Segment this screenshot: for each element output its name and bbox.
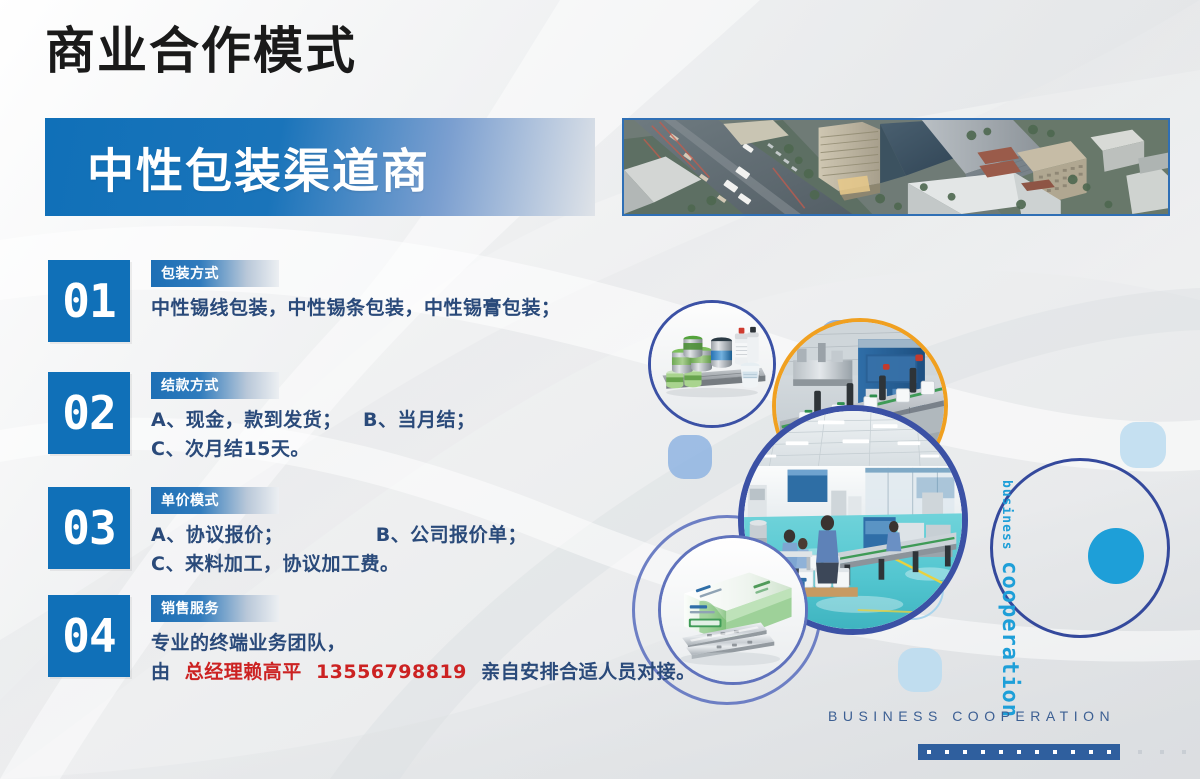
vertical-brand-text: business cooperation <box>997 480 1022 718</box>
dotted-bar-solid <box>918 744 1120 760</box>
bottom-caption: BUSINESS COOPERATION <box>828 708 1115 724</box>
circle-collage <box>620 290 1200 720</box>
item-body: 结款方式 A、现金，款到发货； B、当月结； C、次月结15天。 <box>151 372 476 465</box>
dotted-bar-tail <box>1120 750 1200 754</box>
dot <box>963 750 967 754</box>
item-body: 销售服务 专业的终端业务团队， 由 总经理赖高平 13556798819 亲自安… <box>151 595 696 688</box>
circle-photo-products <box>648 300 776 428</box>
dot <box>1053 750 1057 754</box>
header-photo <box>622 118 1170 216</box>
dot <box>1160 750 1164 754</box>
item-line: 专业的终端业务团队， <box>151 629 696 658</box>
dot <box>945 750 949 754</box>
item-lines: 专业的终端业务团队， 由 总经理赖高平 13556798819 亲自安排合适人员… <box>151 629 696 688</box>
decor-rounded-square <box>668 435 712 479</box>
item-number-badge: 02 <box>48 372 130 454</box>
contact-prefix: 由 <box>151 661 185 683</box>
dot <box>1071 750 1075 754</box>
item-tag: 结款方式 <box>151 372 279 399</box>
item-number-badge: 04 <box>48 595 130 677</box>
headline-banner-text: 中性包装渠道商 <box>87 133 430 202</box>
header-photo-graphic <box>624 120 1168 214</box>
item-number-badge: 01 <box>48 260 130 342</box>
item-line: A、现金，款到发货； B、当月结； <box>151 406 476 435</box>
decor-rounded-square <box>898 648 942 692</box>
decor-circle-solid <box>1088 528 1144 584</box>
vertical-text-small: business <box>999 480 1014 551</box>
item-lines: A、协议报价； B、公司报价单； C、来料加工，协议加工费。 <box>151 521 527 580</box>
dot <box>1107 750 1111 754</box>
item-tag: 销售服务 <box>151 595 279 622</box>
dot <box>1182 750 1186 754</box>
contact-highlight: 总经理赖高平 13556798819 <box>185 661 467 683</box>
item-number-badge: 03 <box>48 487 130 569</box>
decor-rounded-square <box>1120 422 1166 468</box>
dot <box>1035 750 1039 754</box>
item-body: 单价模式 A、协议报价； B、公司报价单； C、来料加工，协议加工费。 <box>151 487 527 580</box>
item-line: 中性锡线包装，中性锡条包装，中性锡膏包装； <box>151 294 561 323</box>
contact-suffix: 亲自安排合适人员对接。 <box>467 661 696 683</box>
vertical-text-large: cooperation <box>997 561 1022 718</box>
dot <box>999 750 1003 754</box>
item-line-contact: 由 总经理赖高平 13556798819 亲自安排合适人员对接。 <box>151 658 696 687</box>
item-tag: 单价模式 <box>151 487 279 514</box>
item-lines: A、现金，款到发货； B、当月结； C、次月结15天。 <box>151 406 476 465</box>
item-body: 包装方式 中性锡线包装，中性锡条包装，中性锡膏包装； <box>151 260 561 323</box>
decor-dotted-bar <box>918 744 1200 760</box>
item-lines: 中性锡线包装，中性锡条包装，中性锡膏包装； <box>151 294 561 323</box>
item-line: A、协议报价； B、公司报价单； <box>151 521 527 550</box>
item-tag: 包装方式 <box>151 260 279 287</box>
headline-banner: 中性包装渠道商 <box>45 118 595 216</box>
dot <box>927 750 931 754</box>
dot <box>981 750 985 754</box>
page-title: 商业合作模式 <box>45 25 357 78</box>
dot <box>1138 750 1142 754</box>
dot <box>1017 750 1021 754</box>
item-line: C、来料加工，协议加工费。 <box>151 550 527 579</box>
dot <box>1089 750 1093 754</box>
products-photo-graphic <box>651 303 773 425</box>
item-line: C、次月结15天。 <box>151 435 476 464</box>
